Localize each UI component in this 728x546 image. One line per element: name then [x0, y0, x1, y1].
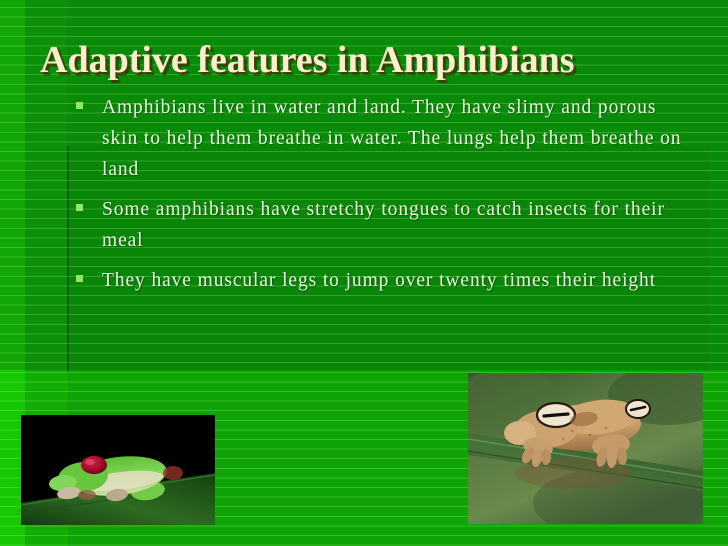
tan-tree-frog-illustration — [468, 373, 703, 524]
red-eyed-tree-frog-photo — [21, 415, 215, 525]
bullet-square-icon — [76, 102, 83, 109]
bullet-item: Amphibians live in water and land. They … — [76, 92, 690, 185]
bullet-item: Some amphibians have stretchy tongues to… — [76, 194, 690, 256]
bullet-item: They have muscular legs to jump over twe… — [76, 265, 690, 296]
bullet-text: Amphibians live in water and land. They … — [102, 92, 690, 185]
bullet-text: They have muscular legs to jump over twe… — [102, 265, 690, 296]
red-eyed-tree-frog-illustration — [21, 415, 215, 525]
slide-body: Amphibians live in water and land. They … — [76, 92, 690, 305]
vertical-divider-line — [67, 146, 69, 371]
slide-title: Adaptive features in Amphibians — [40, 38, 690, 82]
bullet-square-icon — [76, 275, 83, 282]
presentation-slide: Adaptive features in Amphibians Amphibia… — [0, 0, 728, 546]
bullet-square-icon — [76, 204, 83, 211]
bullet-text: Some amphibians have stretchy tongues to… — [102, 194, 690, 256]
tan-tree-frog-photo — [468, 373, 703, 524]
